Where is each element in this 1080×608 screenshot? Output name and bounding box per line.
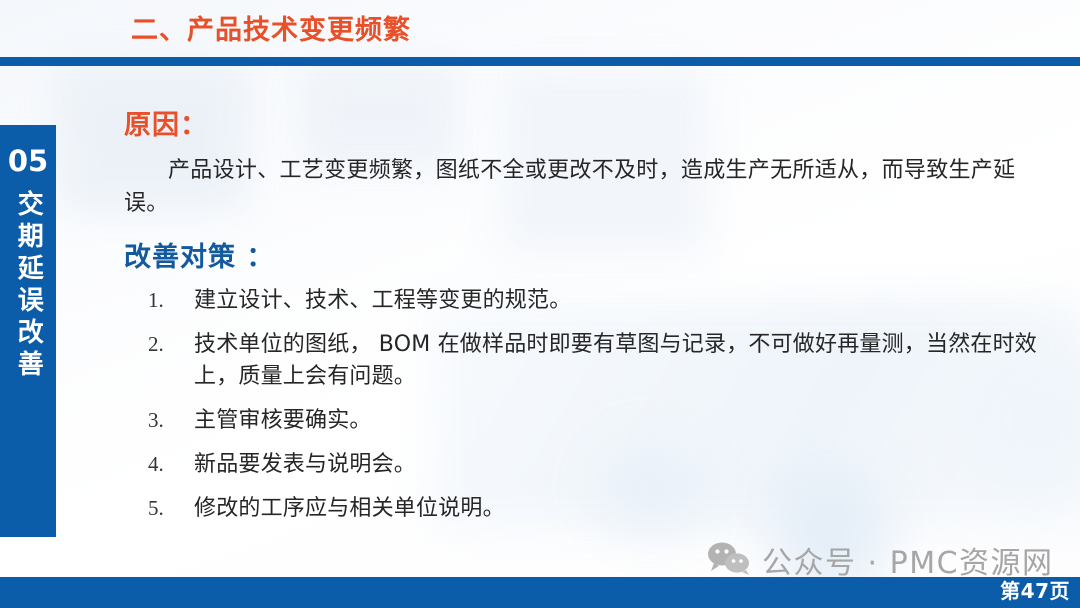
- list-item: 1. 建立设计、技术、工程等变更的规范。: [148, 285, 1069, 317]
- chapter-sidebar: 05 交期延误改善: [0, 125, 56, 537]
- title-bar: 二、产品技术变更频繁: [0, 0, 1080, 57]
- list-item-number: 5.: [148, 493, 194, 524]
- cause-heading: 原因：: [124, 110, 1069, 142]
- list-item: 2. 技术单位的图纸， BOM 在做样品时即要有草图与记录，不可做好再量测，当然…: [148, 329, 1069, 393]
- list-item-label: 建立设计、技术、工程等变更的规范。: [194, 285, 1069, 317]
- cause-paragraph: 产品设计、工艺变更频繁，图纸不全或更改不及时，造成生产无所适从，而导致生产延误。: [124, 154, 1054, 220]
- slide-canvas: 二、产品技术变更频繁 05 交期延误改善 原因： 产品设计、工艺变更频繁，图纸不…: [0, 0, 1080, 608]
- chapter-label: 交期延误改善: [10, 190, 46, 382]
- list-item: 3. 主管审核要确实。: [148, 405, 1069, 437]
- list-item-label: 主管审核要确实。: [194, 405, 1069, 437]
- measures-heading: 改善对策 ：: [124, 242, 1069, 274]
- list-item: 4. 新品要发表与说明会。: [148, 449, 1069, 481]
- list-item-number: 1.: [148, 285, 194, 316]
- list-item-label: 新品要发表与说明会。: [194, 449, 1069, 481]
- wechat-icon: [706, 541, 752, 580]
- title-divider-rule: [0, 57, 1080, 66]
- measures-list: 1. 建立设计、技术、工程等变更的规范。 2. 技术单位的图纸， BOM 在做样…: [124, 285, 1069, 526]
- list-item-number: 3.: [148, 405, 194, 436]
- footer-bar: [0, 577, 1080, 608]
- page-number: 第47页: [1000, 575, 1070, 604]
- list-item-number: 2.: [148, 329, 194, 360]
- chapter-number: 05: [8, 147, 48, 176]
- list-item-number: 4.: [148, 449, 194, 480]
- list-item: 5. 修改的工序应与相关单位说明。: [148, 493, 1069, 525]
- slide-content: 原因： 产品设计、工艺变更频繁，图纸不全或更改不及时，造成生产无所适从，而导致生…: [124, 110, 1069, 537]
- page-title: 二、产品技术变更频繁: [131, 8, 411, 47]
- list-item-label: 技术单位的图纸， BOM 在做样品时即要有草图与记录，不可做好再量测，当然在时效…: [194, 329, 1069, 393]
- list-item-label: 修改的工序应与相关单位说明。: [194, 493, 1069, 525]
